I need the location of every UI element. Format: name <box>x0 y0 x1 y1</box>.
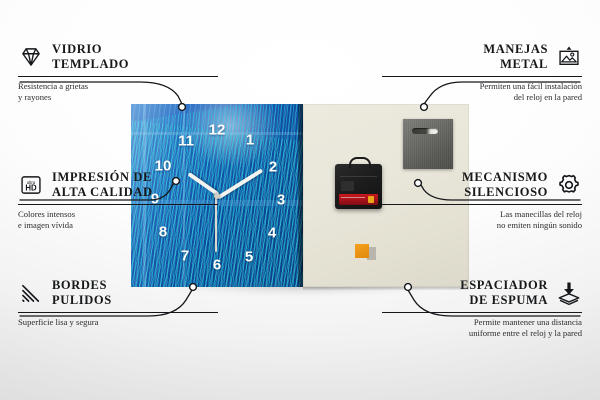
feature-title-line2: PULIDOS <box>52 293 112 308</box>
feature-subtitle-line1: Resistencia a grietas <box>18 81 218 92</box>
feature-subtitle: Superficie lisa y segura <box>18 317 218 328</box>
feature-subtitle-line2: uniforme entre el reloj y la pared <box>382 328 582 339</box>
feature-espaciador-espuma[interactable]: ESPACIADOR DE ESPUMA Permite mantener un… <box>382 278 582 339</box>
feature-impresion-alta-calidad[interactable]: ultra HD IMPRESIÓN DE ALTA CALIDAD Color… <box>18 170 218 231</box>
feature-vidrio-templado[interactable]: VIDRIO TEMPLADO Resistencia a grietas y … <box>18 42 218 103</box>
feature-title-line1: VIDRIO <box>52 42 129 57</box>
feature-title-line2: DE ESPUMA <box>460 293 548 308</box>
battery-positive-terminal <box>368 196 374 203</box>
feature-divider <box>18 312 218 313</box>
feature-title: BORDES PULIDOS <box>52 278 112 308</box>
feature-subtitle-line1: Las manecillas del reloj <box>382 209 582 220</box>
battery <box>339 194 378 205</box>
feature-subtitle-line2: y rayones <box>18 92 218 103</box>
down-arrow <box>564 282 574 294</box>
hanger-texture <box>403 119 453 169</box>
feature-heading: BORDES PULIDOS <box>18 278 218 308</box>
clock-numeral-4: 4 <box>268 226 276 241</box>
feature-heading: MANEJAS METAL <box>382 42 582 72</box>
feature-heading: VIDRIO TEMPLADO <box>18 42 218 72</box>
feature-title-line1: MANEJAS <box>483 42 548 57</box>
metal-hanger-plate <box>403 119 453 169</box>
gear-icon <box>556 172 582 198</box>
feature-subtitle-line2: no emiten ningún sonido <box>382 220 582 231</box>
feature-subtitle-line2: del reloj en la pared <box>382 92 582 103</box>
battery-label-stripe <box>341 197 365 198</box>
clock-numeral-2: 2 <box>269 160 277 175</box>
clock-mechanism-box <box>335 164 382 209</box>
mechanism-seam <box>340 176 377 177</box>
feature-title-line2: ALTA CALIDAD <box>52 185 153 200</box>
feature-title-line1: MECANISMO <box>462 170 548 185</box>
foam-spacer-icon <box>556 280 582 306</box>
foam-spacer <box>355 244 369 258</box>
feature-subtitle-line1: Permiten una fácil instalación <box>382 81 582 92</box>
clock-numeral-1: 1 <box>246 133 254 148</box>
mechanism-panel <box>341 181 354 191</box>
clock-numeral-5: 5 <box>245 250 253 265</box>
feature-title-line2: TEMPLADO <box>52 57 129 72</box>
clock-numeral-12: 12 <box>209 123 226 138</box>
feature-title: VIDRIO TEMPLADO <box>52 42 129 72</box>
clock-numeral-6: 6 <box>213 258 221 273</box>
feature-divider <box>382 76 582 77</box>
infographic-canvas: 12 1 2 3 4 5 6 7 8 9 10 11 <box>0 0 600 400</box>
feature-subtitle-line1: Superficie lisa y segura <box>18 317 218 328</box>
clock-numeral-11: 11 <box>178 134 194 149</box>
ultra-hd-icon: ultra HD <box>18 172 44 198</box>
feature-bordes-pulidos[interactable]: BORDES PULIDOS Superficie lisa y segura <box>18 278 218 328</box>
mechanism-hanging-loop <box>349 157 371 168</box>
feature-subtitle: Resistencia a grietas y rayones <box>18 81 218 103</box>
hanger-nail <box>567 46 572 49</box>
diamond-icon <box>18 44 44 70</box>
feature-subtitle: Permiten una fácil instalación del reloj… <box>382 81 582 103</box>
feature-divider <box>18 76 218 77</box>
feature-heading: ultra HD IMPRESIÓN DE ALTA CALIDAD <box>18 170 218 200</box>
feature-subtitle: Permite mantener una distancia uniforme … <box>382 317 582 339</box>
feature-mecanismo-silencioso[interactable]: MECANISMO SILENCIOSO Las manecillas del … <box>382 170 582 231</box>
feature-title: MANEJAS METAL <box>483 42 548 72</box>
feature-title: MECANISMO SILENCIOSO <box>462 170 548 200</box>
feature-subtitle: Las manecillas del reloj no emiten ningú… <box>382 209 582 231</box>
picture-hanger-icon <box>556 44 582 70</box>
feature-title-line1: ESPACIADOR <box>460 278 548 293</box>
feature-divider <box>382 204 582 205</box>
feature-title-line2: METAL <box>483 57 548 72</box>
feature-divider <box>18 204 218 205</box>
feature-title: IMPRESIÓN DE ALTA CALIDAD <box>52 170 153 200</box>
feature-title-line1: BORDES <box>52 278 112 293</box>
feature-subtitle-line1: Permite mantener una distancia <box>382 317 582 328</box>
feature-heading: MECANISMO SILENCIOSO <box>382 170 582 200</box>
feature-heading: ESPACIADOR DE ESPUMA <box>382 278 582 308</box>
clock-numeral-3: 3 <box>277 193 285 208</box>
polished-edges-icon <box>18 280 44 306</box>
hanger-keyhole-slot <box>412 128 438 134</box>
feature-subtitle-line2: e imagen vívida <box>18 220 218 231</box>
feature-divider <box>382 312 582 313</box>
clock-numeral-7: 7 <box>181 249 189 264</box>
ultra-hd-icon-big-label: HD <box>25 183 37 192</box>
feature-subtitle: Colores intensos e imagen vívida <box>18 209 218 231</box>
feature-manejas-metal[interactable]: MANEJAS METAL Permiten una fácil instala… <box>382 42 582 103</box>
feature-title: ESPACIADOR DE ESPUMA <box>460 278 548 308</box>
feature-title-line1: IMPRESIÓN DE <box>52 170 153 185</box>
feature-subtitle-line1: Colores intensos <box>18 209 218 220</box>
feature-title-line2: SILENCIOSO <box>462 185 548 200</box>
